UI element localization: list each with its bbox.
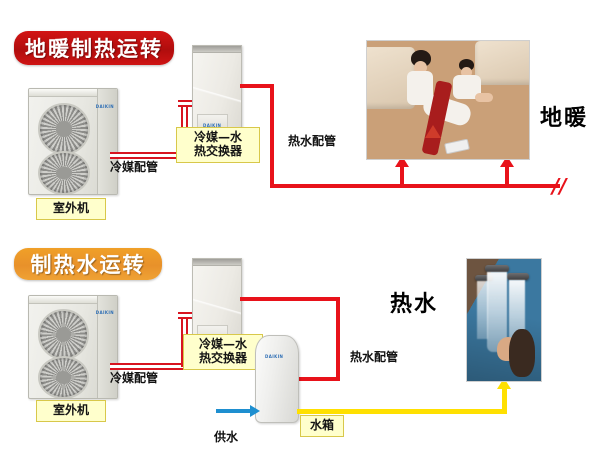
banner-floor-heating-mode: 地暖制热运转 <box>14 31 174 65</box>
photo-sofa-right <box>475 41 530 85</box>
fan-icon <box>38 103 90 155</box>
hot-water-pipe-top-main <box>270 184 560 188</box>
refrigerant-pipe-elbow-bottom <box>178 312 192 319</box>
hot-water-out-pipe-horizontal <box>297 409 507 414</box>
hot-water-pipe-top-outlet <box>240 84 274 88</box>
arrow-right-icon <box>250 405 260 417</box>
hot-water-out-pipe-riser <box>502 388 507 414</box>
outdoor-unit-bottom: DAIKIN <box>28 295 118 399</box>
photo-hair <box>509 329 535 377</box>
hot-water-pipe-bottom-supply <box>240 297 340 301</box>
shower-head-icon <box>507 273 529 280</box>
label-heat-exchanger-bottom: 冷媒—水 热交换器 <box>183 334 263 370</box>
hydrobox-top-cap <box>193 46 241 53</box>
label-refrigerant-pipe-top: 冷媒配管 <box>110 158 158 175</box>
photo-shower <box>466 258 542 382</box>
label-outdoor-unit-top: 室外机 <box>36 198 106 220</box>
diagram-canvas: 地暖制热运转 DAIKIN 室外机 冷媒配管 DAIKIN 冷媒—水 热交换器 … <box>0 0 600 449</box>
water-supply-line <box>216 409 252 413</box>
refrigerant-pipe-elbow-top <box>178 100 192 107</box>
hot-water-pipe-top-branch-1 <box>400 166 404 186</box>
label-hot-water-destination: 热水 <box>390 286 438 318</box>
label-hot-water-pipe-top: 热水配管 <box>288 132 336 149</box>
hot-water-pipe-top-branch-2 <box>505 166 509 186</box>
label-water-supply: 供水 <box>214 428 238 445</box>
hydrobox-top-cap <box>193 259 241 266</box>
hot-water-pipe-bottom-riser <box>336 297 340 381</box>
pipe-break-icon: // <box>552 176 567 196</box>
water-stream <box>477 281 488 339</box>
label-water-tank: 水箱 <box>300 415 344 437</box>
label-heat-exchanger-top: 冷媒—水 热交换器 <box>176 127 260 163</box>
shower-head-icon <box>485 265 509 272</box>
hydrobox-unit-top: DAIKIN <box>192 45 242 139</box>
fan-icon <box>38 151 90 195</box>
outdoor-unit-top: DAIKIN <box>28 88 118 195</box>
label-hot-water-pipe-bottom: 热水配管 <box>350 348 398 365</box>
photo-remote-control <box>444 139 470 155</box>
brand-logo-icon: DAIKIN <box>96 310 114 315</box>
water-tank: DAIKIN <box>255 335 299 423</box>
banner-hot-water-mode: 制热水运转 <box>14 248 162 280</box>
label-floor-heating-destination: 地暖 <box>540 100 588 132</box>
brand-logo-icon: DAIKIN <box>265 354 283 359</box>
label-refrigerant-pipe-bottom: 冷媒配管 <box>110 369 158 386</box>
label-outdoor-unit-bottom: 室外机 <box>36 400 106 422</box>
fan-icon <box>38 356 89 399</box>
hot-water-pipe-top-riser <box>270 84 274 188</box>
fan-icon <box>38 309 89 360</box>
photo-child-leg <box>475 93 493 102</box>
photo-floor-heating <box>366 40 530 160</box>
brand-logo-icon: DAIKIN <box>96 104 114 109</box>
